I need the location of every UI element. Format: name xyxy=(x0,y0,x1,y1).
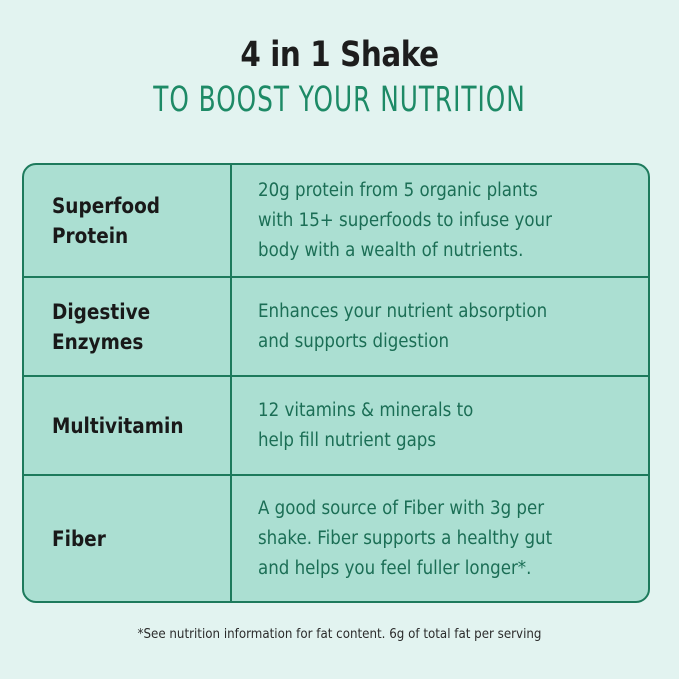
table-cell-description: Enhances your nutrient absorption and su… xyxy=(232,278,648,375)
table-row: Fiber A good source of Fiber with 3g per… xyxy=(24,476,648,601)
table-row: Superfood Protein 20g protein from 5 org… xyxy=(24,165,648,278)
table-cell-label: Digestive Enzymes xyxy=(24,278,232,375)
infographic-page: 4 in 1 Shake TO BOOST YOUR NUTRITION Sup… xyxy=(0,0,679,679)
row-label: Digestive Enzymes xyxy=(52,297,150,357)
row-label: Multivitamin xyxy=(52,411,183,441)
table-cell-label: Superfood Protein xyxy=(24,165,232,276)
page-title: 4 in 1 Shake xyxy=(54,34,624,76)
table-cell-label: Fiber xyxy=(24,476,232,601)
row-description: 12 vitamins & minerals to help fill nutr… xyxy=(258,396,473,456)
page-subtitle: TO BOOST YOUR NUTRITION xyxy=(68,80,611,120)
header: 4 in 1 Shake TO BOOST YOUR NUTRITION xyxy=(0,34,679,118)
footnote: *See nutrition information for fat conte… xyxy=(41,626,639,642)
table-row: Multivitamin 12 vitamins & minerals to h… xyxy=(24,377,648,476)
table-cell-description: 20g protein from 5 organic plants with 1… xyxy=(232,165,648,276)
table-row: Digestive Enzymes Enhances your nutrient… xyxy=(24,278,648,377)
row-label: Fiber xyxy=(52,524,106,554)
row-description: A good source of Fiber with 3g per shake… xyxy=(258,494,552,584)
table-cell-label: Multivitamin xyxy=(24,377,232,474)
row-label: Superfood Protein xyxy=(52,191,160,251)
table-cell-description: A good source of Fiber with 3g per shake… xyxy=(232,476,648,601)
benefits-table: Superfood Protein 20g protein from 5 org… xyxy=(22,163,650,603)
row-description: Enhances your nutrient absorption and su… xyxy=(258,297,547,357)
table-cell-description: 12 vitamins & minerals to help fill nutr… xyxy=(232,377,648,474)
row-description: 20g protein from 5 organic plants with 1… xyxy=(258,176,552,266)
